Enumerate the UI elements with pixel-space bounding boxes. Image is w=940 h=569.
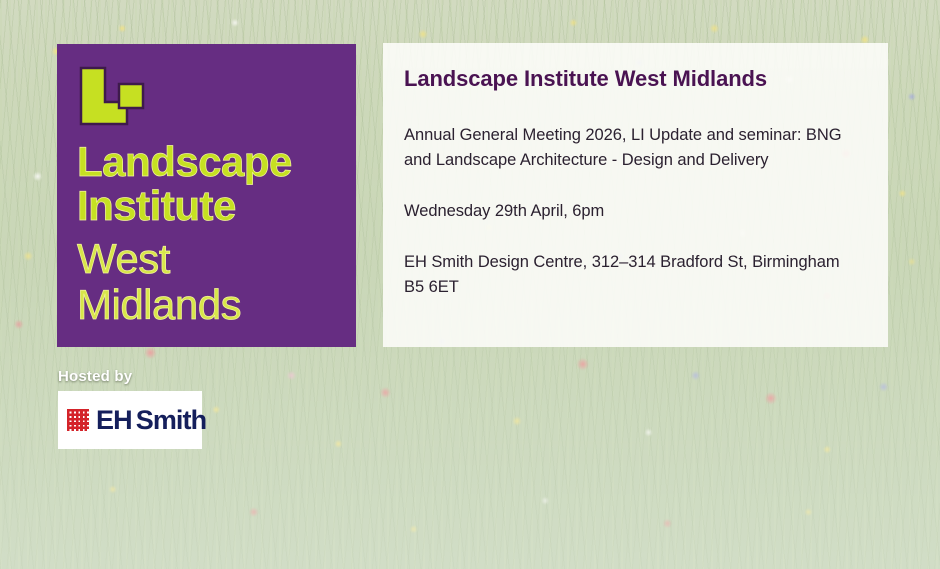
wordmark-line-west: West <box>77 236 348 282</box>
event-venue-address: EH Smith Design Centre, 312–314 Bradford… <box>404 250 864 300</box>
eh-smith-surname: Smith <box>136 405 207 435</box>
wordmark-line-landscape: Landscape <box>77 140 348 184</box>
eh-smith-initials: EH <box>96 405 132 435</box>
eh-smith-grid-icon <box>67 409 89 431</box>
wordmark-line-midlands: Midlands <box>77 282 348 328</box>
eh-smith-logo: EHSmith <box>58 391 202 449</box>
wordmark-line-institute: Institute <box>77 184 348 228</box>
sponsor-lockup: Hosted by EHSmith <box>58 368 203 449</box>
landscape-institute-logo-block: Landscape Institute West Midlands <box>57 44 356 347</box>
event-description: Annual General Meeting 2026, LI Update a… <box>404 123 864 173</box>
event-datetime: Wednesday 29th April, 6pm <box>404 199 864 224</box>
landscape-institute-wordmark: Landscape Institute West Midlands <box>77 140 348 328</box>
hosted-by-label: Hosted by <box>58 368 203 385</box>
eh-smith-wordmark: EHSmith <box>96 407 206 434</box>
landscape-institute-l-mark-icon <box>79 66 151 131</box>
event-title: Landscape Institute West Midlands <box>404 65 864 93</box>
event-details-panel: Landscape Institute West Midlands Annual… <box>383 43 888 347</box>
event-poster: Landscape Institute West Midlands Hosted… <box>0 0 940 569</box>
